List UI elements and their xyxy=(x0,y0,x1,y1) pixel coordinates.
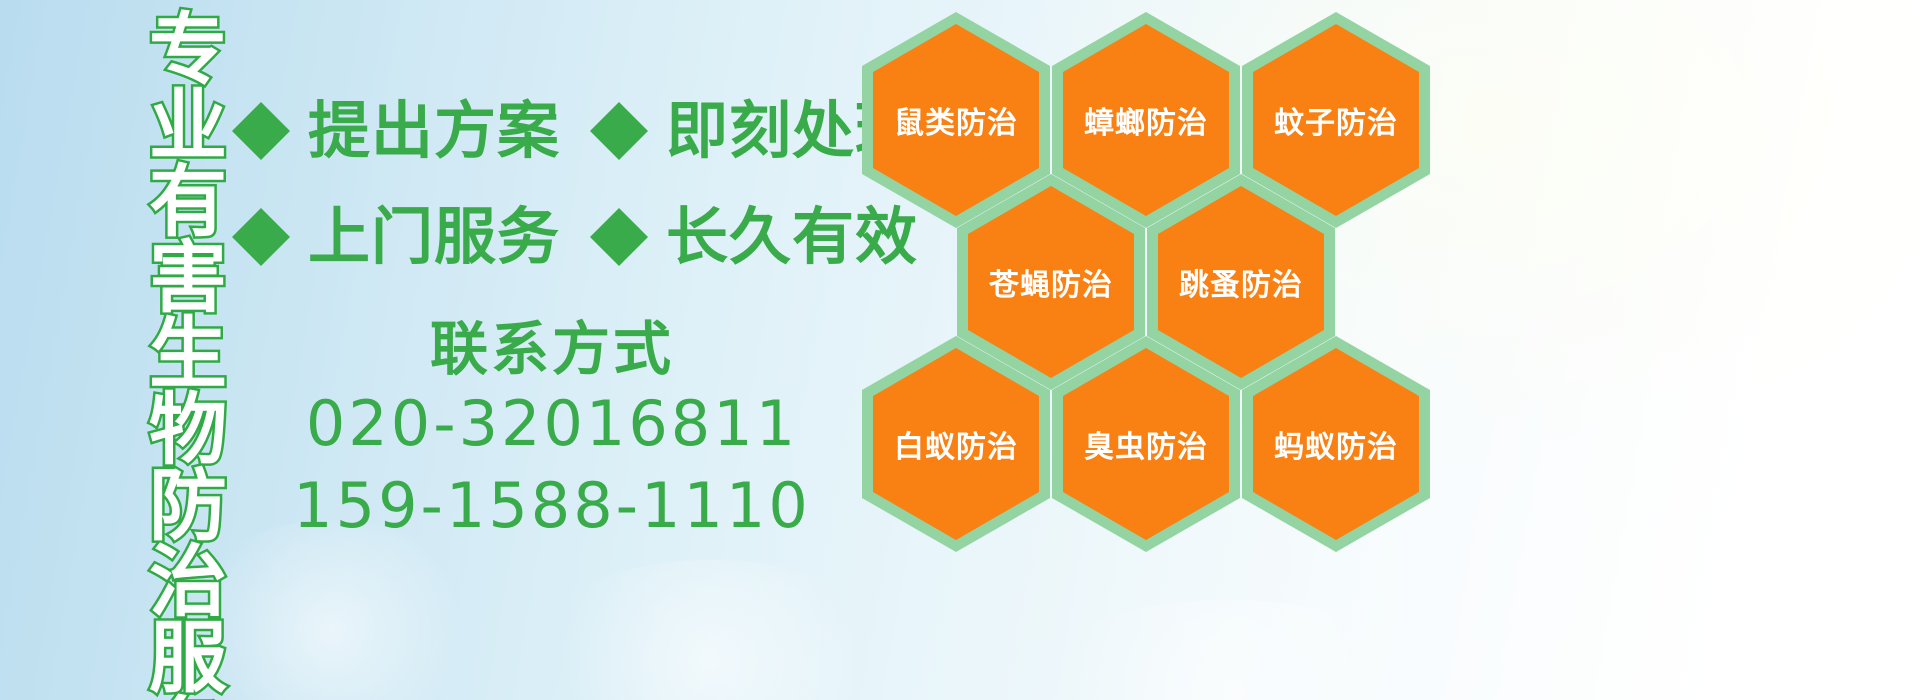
hex-label: 臭虫防治 xyxy=(1084,422,1208,466)
feature-row: 提出方案 即刻处理 xyxy=(232,78,872,184)
hex-inner: 跳蚤防治 xyxy=(1158,186,1324,378)
contact-phone-mobile[interactable]: 159-1588-1110 xyxy=(232,465,872,547)
feature-item: 上门服务 xyxy=(232,206,560,268)
hex-label: 跳蚤防治 xyxy=(1179,260,1303,304)
feature-label: 提出方案 xyxy=(308,100,560,162)
service-honeycomb: 鼠类防治 蟑螂防治 蚊子防治 苍蝇防治 跳蚤防治 白蚁防治 xyxy=(862,0,1462,700)
contact-phone-landline[interactable]: 020-32016811 xyxy=(232,383,872,465)
feature-list: 提出方案 即刻处理 上门服务 长久有效 xyxy=(232,78,872,290)
hex-inner: 臭虫防治 xyxy=(1063,348,1229,540)
hex-inner: 鼠类防治 xyxy=(873,24,1039,216)
hex-inner: 蚂蚁防治 xyxy=(1253,348,1419,540)
feature-label: 上门服务 xyxy=(308,206,560,268)
hex-label: 白蚁防治 xyxy=(894,422,1018,466)
hex-inner: 苍蝇防治 xyxy=(968,186,1134,378)
diamond-bullet-icon xyxy=(232,73,290,131)
feature-item: 提出方案 xyxy=(232,100,560,162)
contact-block: 联系方式 020-32016811 159-1588-1110 xyxy=(232,316,872,546)
hex-label: 鼠类防治 xyxy=(894,98,1018,142)
vertical-title: 专业有害生物防治服务 xyxy=(112,8,220,698)
hex-label: 蚂蚁防治 xyxy=(1274,422,1398,466)
diamond-bullet-icon xyxy=(590,73,648,131)
hex-inner: 蟑螂防治 xyxy=(1063,24,1229,216)
hex-label: 蟑螂防治 xyxy=(1084,98,1208,142)
hex-inner: 白蚁防治 xyxy=(873,348,1039,540)
diamond-bullet-icon xyxy=(232,179,290,237)
background-blob xyxy=(520,560,900,700)
service-banner: 专业有害生物防治服务 提出方案 即刻处理 上门服务 长久有效 联系方式 xyxy=(0,0,1920,700)
hex-inner: 蚊子防治 xyxy=(1253,24,1419,216)
hex-label: 蚊子防治 xyxy=(1274,98,1398,142)
hex-label: 苍蝇防治 xyxy=(989,260,1113,304)
diamond-bullet-icon xyxy=(590,179,648,237)
contact-title: 联系方式 xyxy=(232,316,872,383)
feature-row: 上门服务 长久有效 xyxy=(232,184,872,290)
